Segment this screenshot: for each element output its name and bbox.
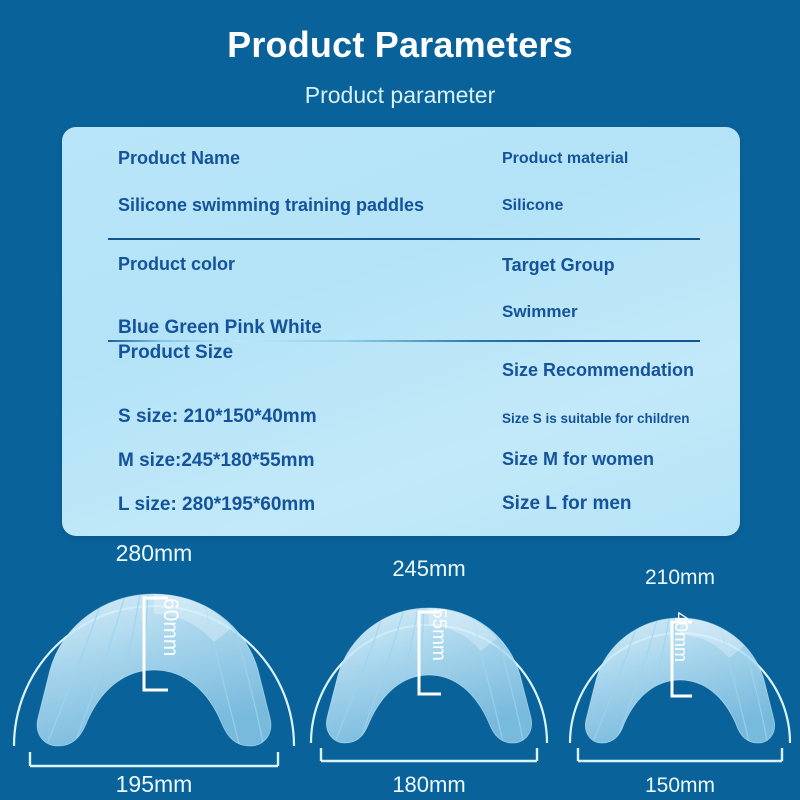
spec-divider-1 [108,238,700,240]
width-dimension-bracket-l [30,752,278,766]
arc-dimension-label-s: 210mm [562,566,798,590]
spec-value-product-name: Silicone swimming training paddles [118,196,424,216]
spec-size-l: L size: 280*195*60mm [118,495,315,516]
spec-recommendation-l: Size L for men [502,494,632,515]
product-parameters-infographic: Product Parameters Product parameter Pro… [0,0,800,800]
height-dimension-label-l: 60mm [160,598,181,656]
spec-recommendation-m: Size M for women [502,450,654,470]
height-dimension-label-s: 40mm [672,612,690,662]
spec-value-target-group: Swimmer [502,303,578,322]
spec-panel-inner: Product Name Silicone swimming training … [62,127,740,536]
spec-label-target-group: Target Group [502,256,615,276]
spec-size-m: M size:245*180*55mm [118,451,314,472]
paddle-illustration-l [8,566,300,762]
product-figures: 280mm [0,540,800,800]
paddle-svg-l [8,566,300,762]
spec-label-product-name: Product Name [118,149,240,169]
paddle-body-l [37,594,271,748]
arc-dimension-label-m: 245mm [305,556,553,582]
spec-label-product-size: Product Size [118,343,233,364]
arc-dimension-label-l: 280mm [8,540,300,567]
spec-label-size-recommendation: Size Recommendation [502,361,694,381]
height-dimension-label-m: 55mm [429,608,448,661]
width-dimension-bracket-m [321,748,537,761]
width-dimension-label-m: 180mm [305,772,553,798]
spec-panel: Product Name Silicone swimming training … [62,127,740,536]
spec-recommendation-s: Size S is suitable for children [502,412,690,427]
spec-label-product-material: Product material [502,150,628,168]
page-subtitle: Product parameter [0,82,800,109]
product-figure-m: 245mm [305,540,553,800]
product-figure-l: 280mm [8,540,300,800]
page-title: Product Parameters [0,24,800,66]
width-dimension-label-l: 195mm [8,771,300,798]
spec-value-product-color: Blue Green Pink White [118,318,322,339]
product-figure-s: 210mm [562,540,798,800]
spec-value-product-material: Silicone [502,197,563,215]
spec-label-product-color: Product color [118,255,235,275]
width-dimension-label-s: 150mm [562,774,798,798]
spec-size-s: S size: 210*150*40mm [118,407,317,428]
width-dimension-bracket-s [578,748,782,761]
